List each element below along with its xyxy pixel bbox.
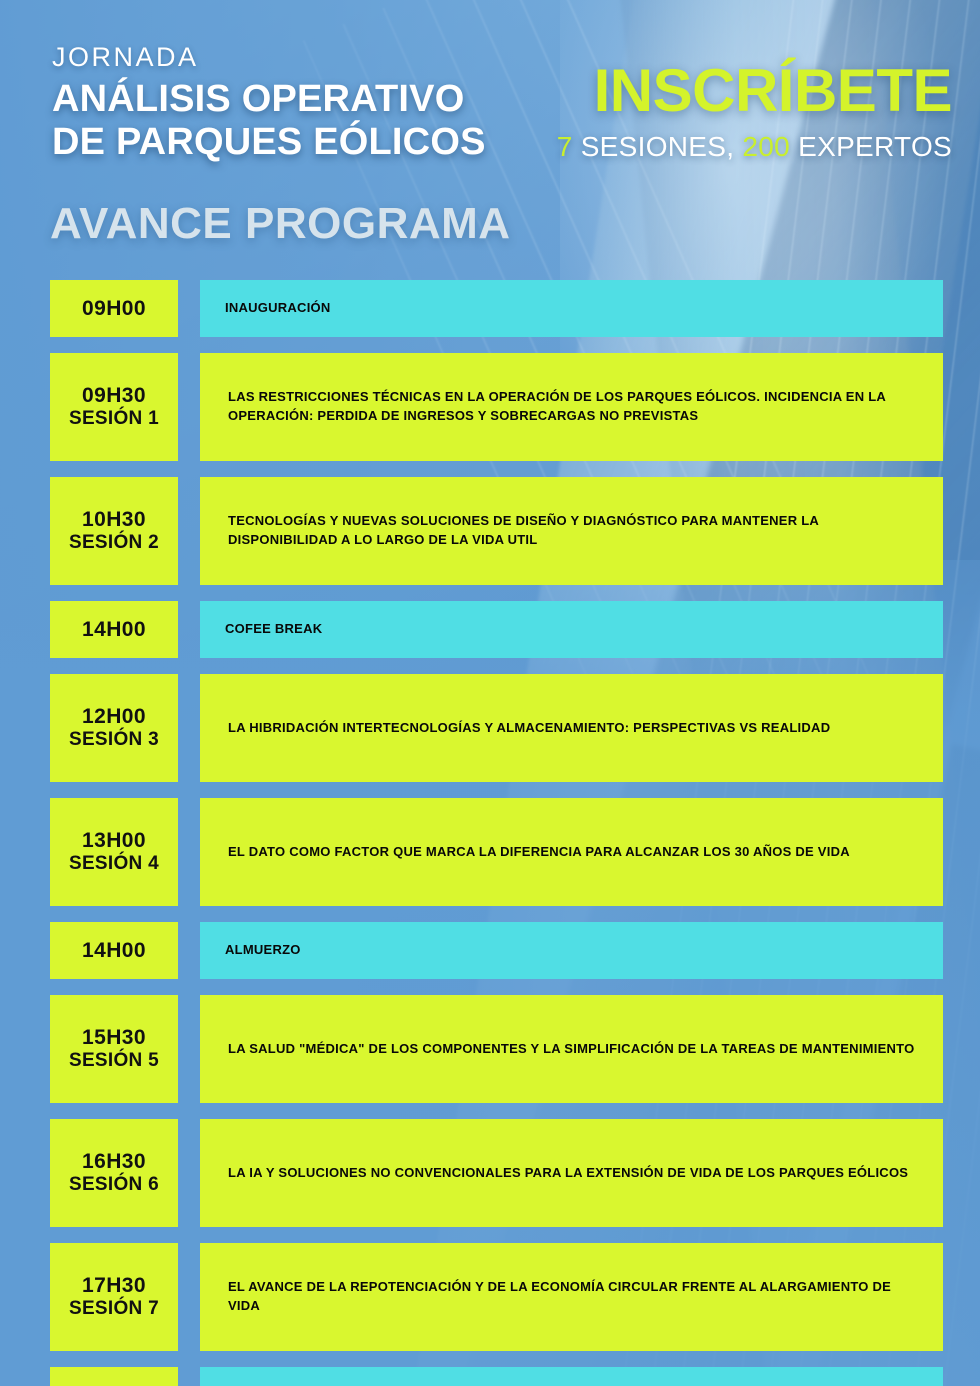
- schedule-time: 09H30: [82, 384, 146, 408]
- schedule-row: 14H00ALMUERZO: [0, 922, 980, 979]
- schedule-session-number: SESIÓN 7: [69, 1298, 159, 1320]
- schedule-time-cell: 12H00SESIÓN 3: [50, 674, 178, 782]
- schedule-topic-cell: LA SALUD "MÉDICA" DE LOS COMPONENTES Y L…: [200, 995, 943, 1103]
- title-block: JORNADA ANÁLISIS OPERATIVO DE PARQUES EÓ…: [52, 44, 486, 163]
- schedule-time-cell: 15H30SESIÓN 5: [50, 995, 178, 1103]
- schedule-time: 09H00: [82, 297, 146, 321]
- schedule-topic-cell: EL DATO COMO FACTOR QUE MARCA LA DIFEREN…: [200, 798, 943, 906]
- schedule-session-number: SESIÓN 5: [69, 1050, 159, 1072]
- schedule-session-number: SESIÓN 6: [69, 1174, 159, 1196]
- schedule-session-number: SESIÓN 3: [69, 729, 159, 751]
- schedule-time-cell: 09H00: [50, 280, 178, 337]
- schedule-row: 16H30SESIÓN 6LA IA Y SOLUCIONES NO CONVE…: [0, 1119, 980, 1227]
- schedule-topic-cell: TECNOLOGÍAS Y NUEVAS SOLUCIONES DE DISEÑ…: [200, 477, 943, 585]
- schedule-row: 10H30SESIÓN 2TECNOLOGÍAS Y NUEVAS SOLUCI…: [0, 477, 980, 585]
- schedule-session-number: SESIÓN 4: [69, 853, 159, 875]
- schedule-topic: LA IA Y SOLUCIONES NO CONVENCIONALES PAR…: [228, 1164, 908, 1183]
- cta-stats: 7 SESIONES, 200 EXPERTOS: [557, 131, 952, 163]
- schedule-time: 13H00: [82, 829, 146, 853]
- schedule-time-cell: 09H30SESIÓN 1: [50, 353, 178, 461]
- schedule-topic: EL DATO COMO FACTOR QUE MARCA LA DIFEREN…: [228, 843, 850, 862]
- schedule-time: 10H30: [82, 508, 146, 532]
- schedule-row: 18H30CLAUSURA: [0, 1367, 980, 1386]
- schedule-topic: ALMUERZO: [225, 941, 301, 960]
- schedule-topic-cell: EL AVANCE DE LA REPOTENCIACIÓN Y DE LA E…: [200, 1243, 943, 1351]
- schedule-row: 13H00SESIÓN 4EL DATO COMO FACTOR QUE MAR…: [0, 798, 980, 906]
- schedule-topic: TECNOLOGÍAS Y NUEVAS SOLUCIONES DE DISEÑ…: [228, 512, 925, 550]
- poster-root: JORNADA ANÁLISIS OPERATIVO DE PARQUES EÓ…: [0, 0, 980, 1386]
- schedule-topic: LA HIBRIDACIÓN INTERTECNOLOGÍAS Y ALMACE…: [228, 719, 830, 738]
- schedule-topic: EL AVANCE DE LA REPOTENCIACIÓN Y DE LA E…: [228, 1278, 925, 1316]
- section-title: AVANCE PROGRAMA: [50, 202, 511, 246]
- register-button-label[interactable]: INSCRÍBETE: [557, 62, 952, 120]
- schedule-topic: INAUGURACIÓN: [225, 299, 331, 318]
- schedule-time: 15H30: [82, 1026, 146, 1050]
- schedule-time-cell: 10H30SESIÓN 2: [50, 477, 178, 585]
- event-kicker: JORNADA: [52, 44, 486, 71]
- schedule-time-cell: 14H00: [50, 922, 178, 979]
- page-title: ANÁLISIS OPERATIVO DE PARQUES EÓLICOS: [52, 78, 486, 163]
- schedule-topic-cell: ALMUERZO: [200, 922, 943, 979]
- schedule-row: 17H30SESIÓN 7EL AVANCE DE LA REPOTENCIAC…: [0, 1243, 980, 1351]
- schedule-row: 09H00INAUGURACIÓN: [0, 280, 980, 337]
- title-line-1: ANÁLISIS OPERATIVO: [52, 78, 465, 120]
- schedule-time: 14H00: [82, 939, 146, 963]
- schedule-topic-cell: INAUGURACIÓN: [200, 280, 943, 337]
- schedule-row: 14H00COFEE BREAK: [0, 601, 980, 658]
- schedule-row: 09H30SESIÓN 1LAS RESTRICCIONES TÉCNICAS …: [0, 353, 980, 461]
- schedule-session-number: SESIÓN 1: [69, 408, 159, 430]
- title-line-2: DE PARQUES EÓLICOS: [52, 121, 486, 164]
- schedule-topic-cell: COFEE BREAK: [200, 601, 943, 658]
- sessions-count: 7: [557, 131, 573, 162]
- schedule-time-cell: 18H30: [50, 1367, 178, 1386]
- schedule-topic-cell: CLAUSURA: [200, 1367, 943, 1386]
- schedule-topic-cell: LA IA Y SOLUCIONES NO CONVENCIONALES PAR…: [200, 1119, 943, 1227]
- registration-cta[interactable]: INSCRÍBETE 7 SESIONES, 200 EXPERTOS: [557, 62, 952, 163]
- schedule-topic-cell: LA HIBRIDACIÓN INTERTECNOLOGÍAS Y ALMACE…: [200, 674, 943, 782]
- experts-word: EXPERTOS: [790, 131, 952, 162]
- schedule-list: 09H00INAUGURACIÓN09H30SESIÓN 1LAS RESTRI…: [0, 280, 980, 1386]
- schedule-time-cell: 14H00: [50, 601, 178, 658]
- schedule-time-cell: 17H30SESIÓN 7: [50, 1243, 178, 1351]
- schedule-row: 15H30SESIÓN 5LA SALUD "MÉDICA" DE LOS CO…: [0, 995, 980, 1103]
- schedule-topic-cell: LAS RESTRICCIONES TÉCNICAS EN LA OPERACI…: [200, 353, 943, 461]
- schedule-topic: LA SALUD "MÉDICA" DE LOS COMPONENTES Y L…: [228, 1040, 915, 1059]
- schedule-time: 17H30: [82, 1274, 146, 1298]
- experts-count: 200: [742, 131, 790, 162]
- schedule-time: 14H00: [82, 618, 146, 642]
- content-layer: JORNADA ANÁLISIS OPERATIVO DE PARQUES EÓ…: [0, 0, 980, 1386]
- schedule-time: 12H00: [82, 705, 146, 729]
- schedule-topic: COFEE BREAK: [225, 620, 322, 639]
- sessions-word: SESIONES,: [573, 131, 743, 162]
- poster-header: JORNADA ANÁLISIS OPERATIVO DE PARQUES EÓ…: [0, 0, 980, 270]
- schedule-time: 16H30: [82, 1150, 146, 1174]
- schedule-row: 12H00SESIÓN 3LA HIBRIDACIÓN INTERTECNOLO…: [0, 674, 980, 782]
- schedule-topic: LAS RESTRICCIONES TÉCNICAS EN LA OPERACI…: [228, 388, 925, 426]
- schedule-time-cell: 13H00SESIÓN 4: [50, 798, 178, 906]
- schedule-session-number: SESIÓN 2: [69, 532, 159, 554]
- schedule-time-cell: 16H30SESIÓN 6: [50, 1119, 178, 1227]
